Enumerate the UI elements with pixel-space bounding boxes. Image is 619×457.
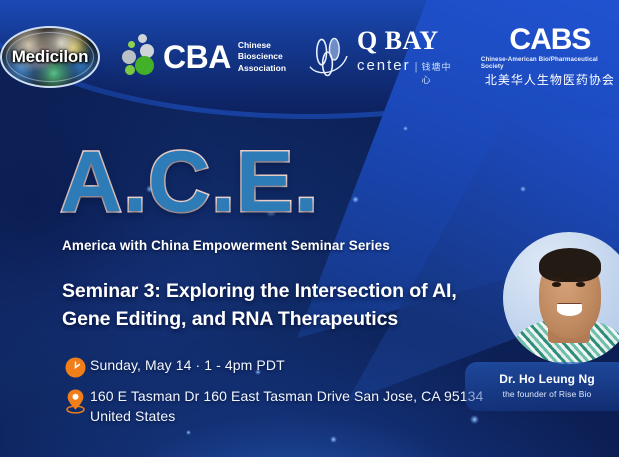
sponsor-logo-strip: Medicilon CBA Chinese Bioscience Associa…: [0, 26, 619, 88]
logo-cba[interactable]: CBA Chinese Bioscience Association: [122, 34, 286, 80]
medicilon-oval-mark: Medicilon: [0, 26, 100, 88]
logo-cabs[interactable]: CABS Chinese-American Bio/Pharmaceutical…: [481, 26, 619, 89]
map-pin-icon: [60, 387, 90, 414]
qbay-mark-icon: [308, 34, 349, 80]
cba-subtitle-line: Chinese: [238, 40, 286, 51]
speaker-eye-left: [552, 282, 561, 287]
speaker-hair: [539, 248, 601, 282]
qbay-center-label: center: [357, 57, 411, 74]
cba-subtitle: Chinese Bioscience Association: [238, 40, 286, 74]
cba-subtitle-line: Association: [238, 63, 286, 74]
speaker-brow-right: [576, 277, 588, 280]
speaker-name: Dr. Ho Leung Ng: [477, 372, 617, 386]
event-poster: Medicilon CBA Chinese Bioscience Associa…: [0, 0, 619, 457]
logo-qbay[interactable]: Q BAY center | 钱塘中心: [308, 28, 459, 86]
ace-acronym: A.C.E.: [60, 142, 319, 224]
cabs-wordmark: CABS: [509, 26, 590, 55]
clock-icon: [60, 356, 90, 378]
logo-medicilon[interactable]: Medicilon: [0, 26, 100, 88]
event-datetime: Sunday, May 14 · 1 - 4pm PDT: [90, 356, 285, 376]
ace-tagline: America with China Empowerment Seminar S…: [62, 238, 390, 253]
event-location: 160 E Tasman Dr 160 East Tasman Drive Sa…: [90, 387, 490, 427]
speaker-photo: [503, 232, 619, 364]
qbay-wordmark: Q BAY: [357, 28, 459, 54]
cba-bubbles-icon: [122, 34, 156, 80]
cba-wordmark: CBA: [163, 41, 231, 73]
event-location-row: 160 E Tasman Dr 160 East Tasman Drive Sa…: [60, 387, 490, 427]
cba-subtitle-line: Bioscience: [238, 51, 286, 62]
qbay-center-row: center | 钱塘中心: [357, 57, 459, 86]
cabs-chinese-subtitle: 北美华人生物医药协会: [485, 71, 615, 88]
event-datetime-row: Sunday, May 14 · 1 - 4pm PDT: [60, 356, 490, 378]
medicilon-wordmark: Medicilon: [12, 47, 89, 67]
cabs-subtitle: Chinese-American Bio/Pharmaceutical Soci…: [481, 56, 619, 70]
qbay-chinese-label: 钱塘中心: [422, 60, 459, 86]
event-details: Sunday, May 14 · 1 - 4pm PDT 160 E Tasma…: [60, 356, 490, 436]
speaker-brow-left: [551, 277, 563, 280]
speaker-eye-right: [576, 282, 585, 287]
seminar-title: Seminar 3: Exploring the Intersection of…: [62, 278, 502, 333]
qbay-divider: |: [415, 61, 418, 73]
speaker-card: Dr. Ho Leung Ng the founder of Rise Bio: [465, 362, 619, 411]
speaker-role: the founder of Rise Bio: [477, 389, 617, 399]
